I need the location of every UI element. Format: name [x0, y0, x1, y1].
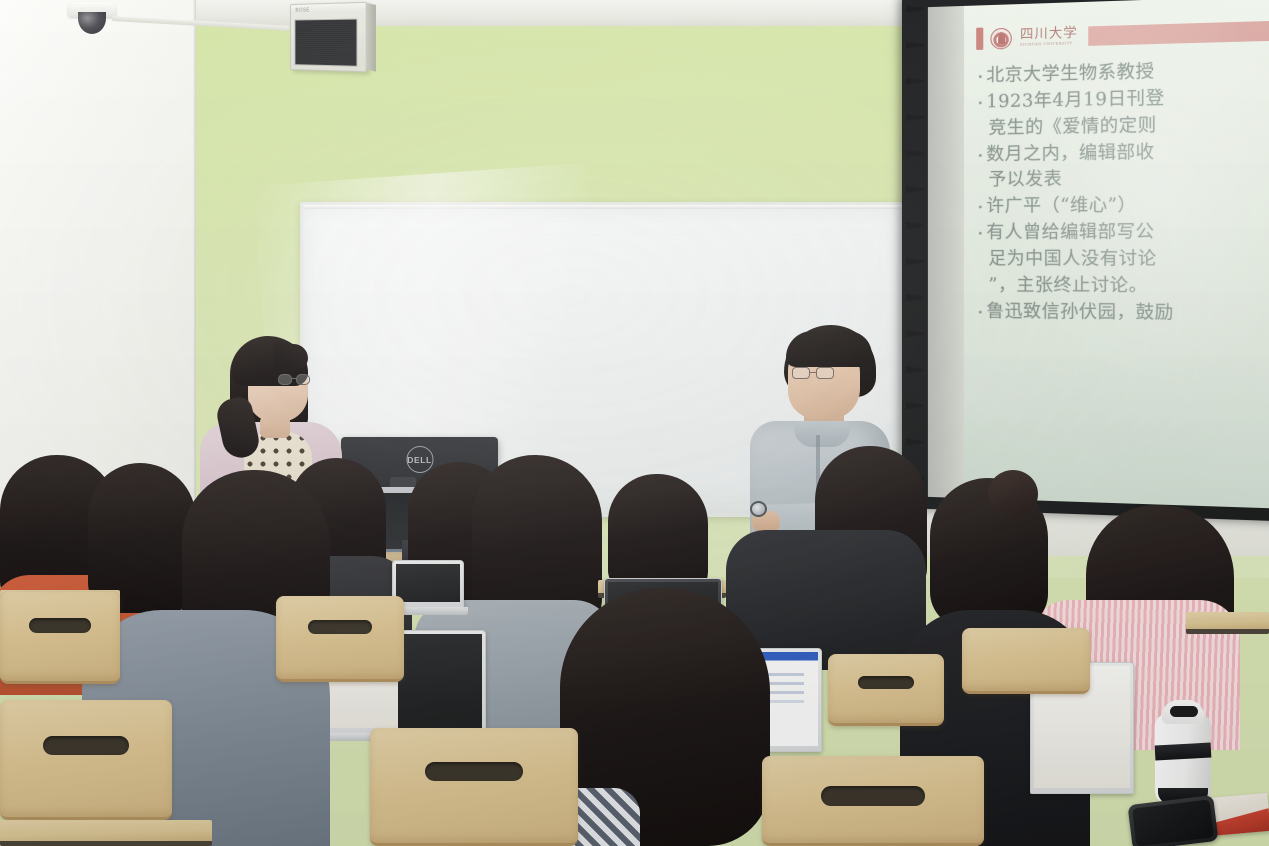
- screen-tooth: [906, 222, 924, 229]
- slide-bullet: •竞生的《爱情的定则: [974, 111, 1269, 142]
- chair-back: [0, 592, 120, 684]
- laptop-screen: [396, 564, 460, 602]
- phone-screen: [1132, 799, 1214, 846]
- slide-bullet: •鲁迅致信孙伏园，鼓励: [974, 299, 1269, 327]
- bullet-marker-icon: •: [974, 90, 986, 109]
- slide-bullet: •予以发表: [974, 165, 1269, 194]
- chair-back: [0, 700, 172, 820]
- white-wall-pillar: [0, 0, 196, 520]
- screen-tooth: [906, 294, 924, 301]
- slide-header: 四川大学 SICHUAN UNIVERSITY: [964, 14, 1269, 54]
- man-mandarin-collar: [794, 421, 850, 447]
- screen-tooth: [906, 5, 924, 13]
- speaker-side: [366, 3, 376, 72]
- slide-banner-bar: [1088, 20, 1269, 45]
- bullet-text: 有人曾给编辑部写公: [986, 220, 1154, 246]
- glasses-lens-left: [278, 374, 292, 385]
- sichuan-university-seal-icon: [990, 27, 1011, 49]
- thermos-stripe: [1155, 743, 1212, 761]
- bullet-text: 足为中国人没有讨论: [986, 247, 1156, 273]
- speaker-brand-label: BOSE: [295, 7, 310, 13]
- screen-frame: 四川大学 SICHUAN UNIVERSITY •北京大学生物系教授•1923年…: [902, 0, 1269, 522]
- bullet-marker-icon: •: [974, 221, 986, 240]
- screen-tooth: [906, 438, 924, 445]
- bullet-text: 竞生的《爱情的定则: [986, 113, 1156, 141]
- bullet-text: ”，主张终止讨论。: [986, 273, 1147, 299]
- chair-back: [828, 654, 944, 726]
- chair-handle: [425, 762, 523, 781]
- glasses-lens-right: [816, 367, 834, 379]
- glasses-lens-left: [792, 367, 810, 379]
- student-head: [608, 474, 708, 594]
- man-glasses-icon: [792, 367, 836, 380]
- speaker-grille: [295, 19, 358, 67]
- screen-tooth: [906, 186, 924, 193]
- bullet-text: 许广平（“维心”）: [986, 193, 1136, 219]
- smartphone[interactable]: [1128, 795, 1219, 846]
- dell-logo-icon: DELL: [406, 446, 433, 473]
- man-hair-front: [786, 331, 872, 367]
- camera-dome: [78, 12, 106, 34]
- panda-thermos: [1155, 700, 1211, 804]
- slide-bullet: •”，主张终止讨论。: [974, 273, 1269, 300]
- desk: [0, 820, 212, 846]
- slide-bullet: •有人曾给编辑部写公: [974, 219, 1269, 245]
- slide-bullet: •数月之内，编辑部收: [974, 138, 1269, 168]
- screen-tooth: [906, 114, 924, 121]
- screen-tooth: [906, 258, 924, 265]
- glasses-lens-right: [296, 374, 310, 385]
- bullet-text: 北京大学生物系教授: [986, 60, 1154, 89]
- wall-speaker-icon: BOSE: [290, 2, 367, 72]
- bullet-text: 鲁迅致信孙伏园，鼓励: [986, 299, 1173, 326]
- bullet-marker-icon: •: [974, 142, 986, 161]
- slide-accent-tick: [976, 28, 983, 50]
- bullet-text: 1923年4月19日刊登: [986, 86, 1164, 115]
- projection-screen: 四川大学 SICHUAN UNIVERSITY •北京大学生物系教授•1923年…: [902, 0, 1269, 508]
- bullet-marker-icon: •: [974, 195, 986, 214]
- bullet-text: 数月之内，编辑部收: [986, 140, 1154, 168]
- projected-slide: 四川大学 SICHUAN UNIVERSITY •北京大学生物系教授•1923年…: [964, 0, 1269, 509]
- student-hair-bun: [988, 470, 1038, 518]
- screen-tooth: [906, 150, 924, 157]
- bullet-marker-icon: •: [974, 299, 986, 318]
- org-subtitle: SICHUAN UNIVERSITY: [1020, 42, 1078, 47]
- wristwatch-icon: [750, 501, 767, 517]
- dome-camera-icon: [68, 2, 116, 38]
- slide-bullet: •1923年4月19日刊登: [974, 84, 1269, 116]
- screen-tooth: [906, 41, 924, 49]
- screen-tension-teeth: [906, 5, 924, 498]
- panda-eyes-icon: [1170, 706, 1198, 717]
- screen-tooth: [906, 330, 924, 337]
- org-wordmark: 四川大学 SICHUAN UNIVERSITY: [1020, 26, 1078, 47]
- bullet-text: 予以发表: [986, 168, 1062, 194]
- woman-glasses-icon: [278, 374, 312, 386]
- chair-handle: [29, 618, 91, 633]
- slide-bullet: •许广平（“维心”）: [974, 192, 1269, 219]
- chair-handle: [43, 736, 129, 755]
- org-name: 四川大学: [1020, 25, 1078, 42]
- chair-back: [762, 756, 984, 846]
- screen-tooth: [906, 77, 924, 84]
- screen-surface: 四川大学 SICHUAN UNIVERSITY •北京大学生物系教授•1923年…: [928, 0, 1269, 509]
- screen-left-band: [928, 6, 964, 498]
- chair-back: [370, 728, 578, 846]
- chair-back: [276, 596, 404, 682]
- bullet-marker-icon: •: [974, 64, 986, 83]
- chair-handle: [858, 676, 914, 689]
- screen-tooth: [906, 402, 924, 409]
- woman-hair-fringe: [274, 344, 308, 370]
- desk: [1186, 612, 1269, 634]
- chair-handle: [821, 786, 925, 806]
- screen-tooth: [906, 366, 924, 373]
- chair-back: [962, 628, 1090, 694]
- chair-handle: [308, 620, 372, 634]
- slide-bullet: •足为中国人没有讨论: [974, 247, 1269, 273]
- classroom-photo: BOSE 四川大学 SICHUAN UNIVERSITY: [0, 0, 1269, 846]
